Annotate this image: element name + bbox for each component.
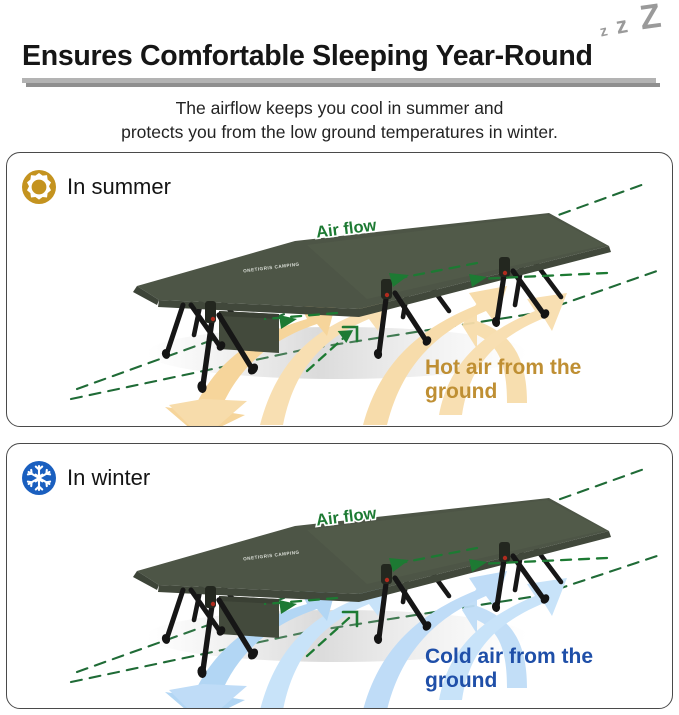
cot-joint-pin-left [211,317,215,321]
infographic-page: z z Z Ensures Comfortable Sleeping Year-… [0,0,679,715]
page-subtitle: The airflow keeps you cool in summer and… [0,96,679,144]
cot-joint-pin-center [385,293,389,297]
cot-joint-pin-right [503,556,507,560]
subtitle-line-2: protects you from the low ground tempera… [0,120,679,144]
zzz-letter-medium: z [614,13,629,38]
callout-cold-air: Cold air from the ground [425,645,655,693]
cot-joint-pin-right [503,271,507,275]
snowflake-icon [21,460,57,496]
zzz-letter-large: Z [638,0,663,35]
cot-joint-pin-left [211,602,215,606]
zzz-letter-small: z [599,23,609,39]
season-label-winter: In winter [67,465,150,491]
sun-icon [21,169,57,205]
title-underline [22,78,656,83]
title-underline-shadow [26,83,660,87]
season-header-summer: In summer [21,169,171,205]
callout-hot-air: Hot air from the ground [425,356,655,404]
season-label-summer: In summer [67,174,171,200]
page-title: Ensures Comfortable Sleeping Year-Round [22,40,656,73]
subtitle-line-1: The airflow keeps you cool in summer and [0,96,679,120]
cot-joint-pin-center [385,578,389,582]
season-header-winter: In winter [21,460,150,496]
